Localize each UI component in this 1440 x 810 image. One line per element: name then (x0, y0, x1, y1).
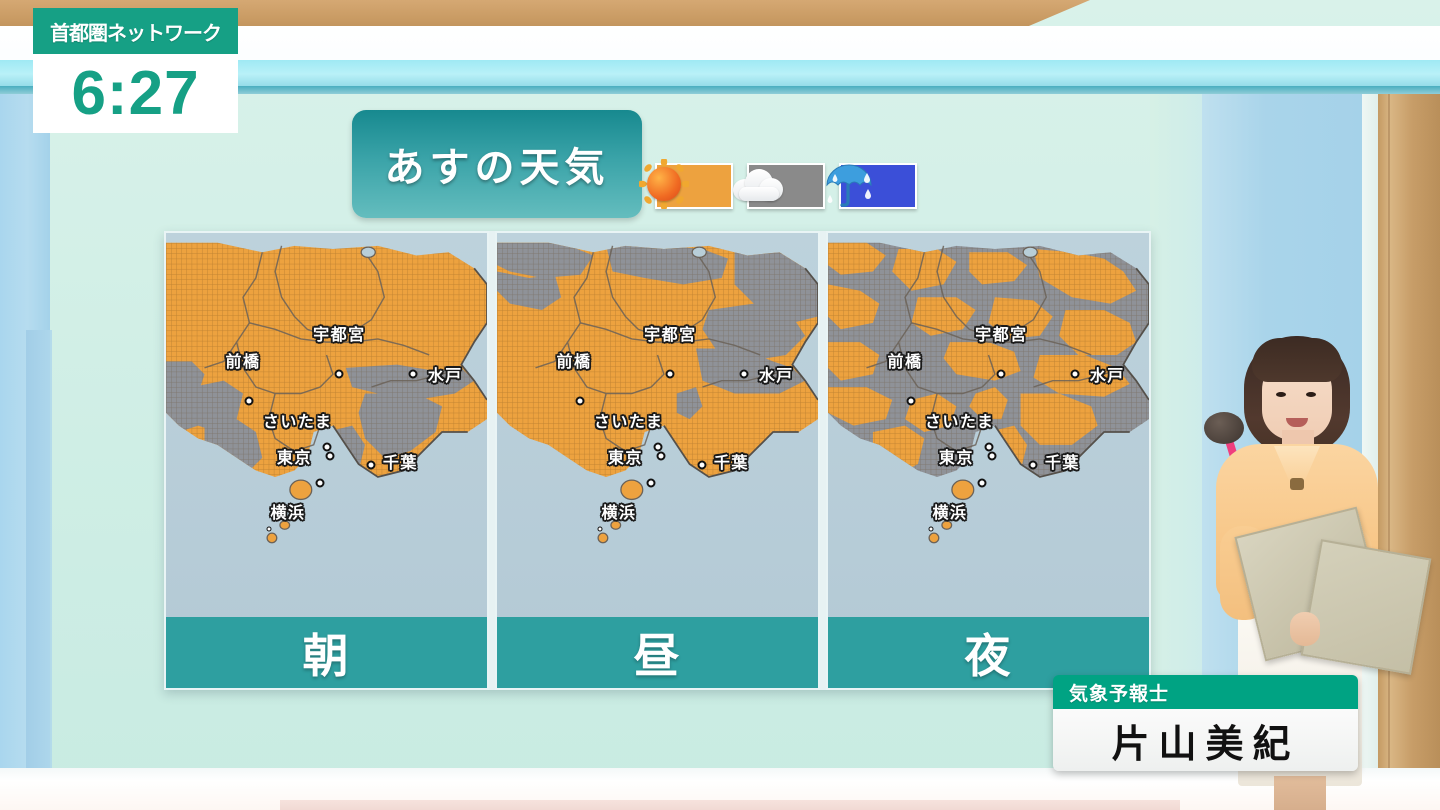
broadcast-screen: 首都圏ネットワーク 6:27 あすの天気 (0, 0, 1440, 810)
on-air-clock: 6:27 (33, 54, 238, 133)
map-caption-noon: 昼 (497, 617, 818, 688)
map-weather-overlay-morning (166, 233, 487, 554)
city-dot-tokyo-secondary (316, 479, 325, 488)
program-logo-clock: 首都圏ネットワーク 6:27 (33, 8, 238, 133)
map-panel-noon[interactable]: 宇都宮 前橋 水戸 さいたま 東京 千葉 横浜 昼 (495, 231, 820, 690)
city-dot-tokyo (656, 451, 665, 460)
weather-legend (655, 163, 917, 209)
city-dot-saitama (653, 442, 662, 451)
map-panel-night[interactable]: 宇都宮 前橋 水戸 さいたま 東京 千葉 横浜 夜 (826, 231, 1151, 690)
city-dot-yokohama (266, 526, 271, 531)
legend-item-rainy (839, 163, 917, 209)
city-dot-yokohama (928, 526, 933, 531)
city-dot-saitama (984, 442, 993, 451)
presenter-name: 片山美紀 (1053, 709, 1358, 771)
program-title: 首都圏ネットワーク (33, 8, 238, 54)
pointer-stick-tip (1204, 412, 1244, 444)
presenter-holding-board-secondary (1301, 539, 1432, 675)
cloud-icon (737, 161, 791, 215)
city-dot-maebashi (576, 397, 585, 406)
umbrella-icon (829, 161, 883, 215)
city-dot-chiba (1029, 461, 1038, 470)
city-dot-utsunomiya (335, 370, 344, 379)
city-dot-mito (409, 370, 418, 379)
map-panel-morning[interactable]: 宇都宮 前橋 水戸 さいたま 東京 千葉 横浜 朝 (164, 231, 489, 690)
city-dot-chiba (367, 461, 376, 470)
studio-floor-accent (280, 800, 1180, 810)
segment-title-text: あすの天気 (385, 135, 610, 193)
map-weather-overlay-noon (497, 233, 818, 554)
sun-icon (645, 161, 699, 215)
city-dot-tokyo (987, 451, 996, 460)
map-caption-text: 昼 (634, 620, 682, 686)
map-caption-morning: 朝 (166, 617, 487, 688)
city-dot-maebashi (245, 397, 254, 406)
city-dot-utsunomiya (997, 370, 1006, 379)
city-dot-maebashi (907, 397, 916, 406)
city-dot-mito (740, 370, 749, 379)
city-dot-mito (1071, 370, 1080, 379)
presenter-eye-left (1276, 392, 1286, 397)
city-dot-chiba (698, 461, 707, 470)
forecast-map-board: 宇都宮 前橋 水戸 さいたま 東京 千葉 横浜 朝 (164, 231, 1151, 690)
city-dot-yokohama (597, 526, 602, 531)
presenter-brooch (1290, 478, 1304, 490)
city-dot-saitama (322, 442, 331, 451)
city-dot-tokyo (325, 451, 334, 460)
legend-item-sunny (655, 163, 733, 209)
city-dot-utsunomiya (666, 370, 675, 379)
presenter-bangs (1252, 338, 1342, 382)
presenter-eye-right (1306, 392, 1316, 397)
presenter-role: 気象予報士 (1053, 675, 1358, 709)
city-dot-tokyo-secondary (647, 479, 656, 488)
legend-item-cloudy (747, 163, 825, 209)
city-dot-tokyo-secondary (978, 479, 987, 488)
map-caption-text: 夜 (965, 620, 1013, 686)
presenter-nameplate: 気象予報士 片山美紀 (1053, 675, 1358, 771)
segment-title-banner: あすの天気 (352, 110, 642, 218)
presenter-hand (1290, 612, 1320, 646)
map-caption-text: 朝 (303, 620, 351, 686)
map-weather-overlay-night (828, 233, 1149, 554)
studio-left-blue-shadow (26, 330, 52, 770)
presenter-legs (1274, 776, 1326, 810)
